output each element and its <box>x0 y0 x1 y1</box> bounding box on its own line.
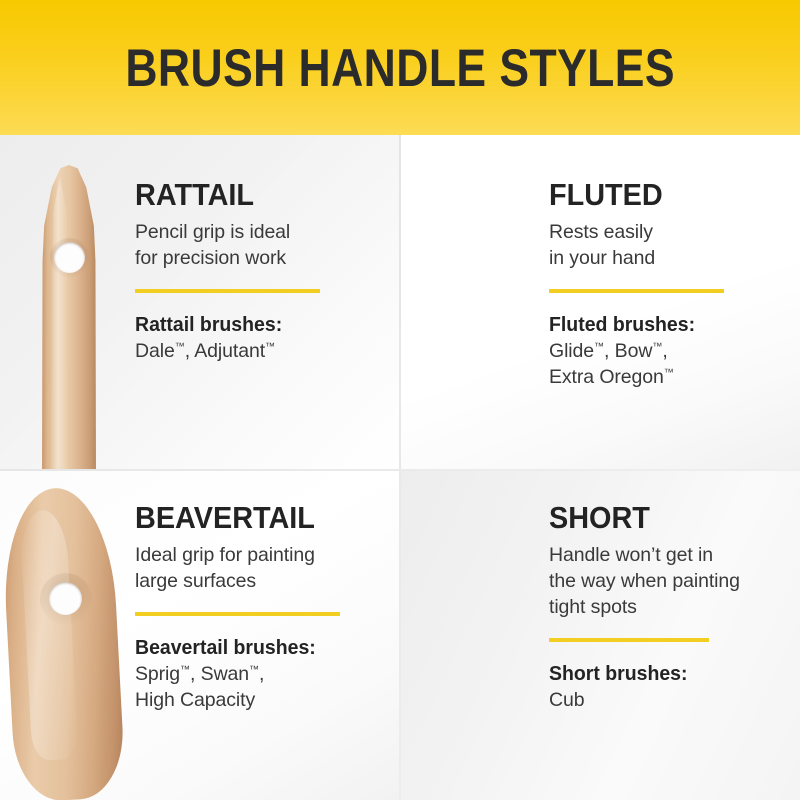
style-description-short: Handle won’t get inthe way when painting… <box>549 542 794 620</box>
brushes-list-short: Cub <box>549 688 794 714</box>
fluted-copy-block: FLUTED Rests easilyin your hand Fluted b… <box>549 179 794 391</box>
style-name-fluted: FLUTED <box>549 179 777 212</box>
brushes-label-fluted: Fluted brushes: <box>549 314 782 337</box>
brushes-list-fluted: Glide™, Bow™,Extra Oregon™ <box>549 339 794 391</box>
beavertail-handle-image <box>0 485 126 800</box>
styles-grid: RATTAIL Pencil grip is idealfor precisio… <box>0 135 800 800</box>
beavertail-copy-block: BEAVERTAIL Ideal grip for paintinglarge … <box>135 502 390 714</box>
brush-handle-styles-infographic: BRUSH HANDLE STYLES RATTAIL Pencil grip … <box>0 0 800 800</box>
trademark-symbol: ™ <box>594 342 604 353</box>
style-name-short: SHORT <box>549 502 777 535</box>
accent-divider-beavertail <box>135 612 340 616</box>
trademark-symbol: ™ <box>175 342 185 353</box>
brushes-label-beavertail: Beavertail brushes: <box>135 637 377 660</box>
style-description-fluted: Rests easilyin your hand <box>549 219 794 271</box>
style-description-beavertail: Ideal grip for paintinglarge surfaces <box>135 542 390 594</box>
beavertail-hang-hole <box>49 582 82 615</box>
trademark-symbol: ™ <box>180 665 190 676</box>
page-title: BRUSH HANDLE STYLES <box>125 42 675 95</box>
horizontal-divider <box>0 469 800 471</box>
accent-divider-rattail <box>135 289 320 293</box>
accent-divider-fluted <box>549 289 724 293</box>
rattail-handle-image <box>42 165 96 470</box>
panel-rattail: RATTAIL Pencil grip is idealfor precisio… <box>0 135 400 470</box>
rattail-hang-hole <box>54 242 85 273</box>
trademark-symbol: ™ <box>249 665 259 676</box>
vertical-divider <box>399 135 401 800</box>
style-description-rattail: Pencil grip is idealfor precision work <box>135 219 380 271</box>
brushes-list-rattail: Dale™, Adjutant™ <box>135 339 380 365</box>
style-name-beavertail: BEAVERTAIL <box>135 502 372 535</box>
brushes-label-rattail: Rattail brushes: <box>135 314 368 337</box>
header-banner: BRUSH HANDLE STYLES <box>0 0 800 135</box>
trademark-symbol: ™ <box>265 342 275 353</box>
rattail-copy-block: RATTAIL Pencil grip is idealfor precisio… <box>135 179 380 365</box>
brushes-label-short: Short brushes: <box>549 663 782 686</box>
brushes-list-beavertail: Sprig™, Swan™,High Capacity <box>135 662 390 714</box>
trademark-symbol: ™ <box>652 342 662 353</box>
trademark-symbol: ™ <box>664 368 674 379</box>
style-name-rattail: RATTAIL <box>135 179 363 212</box>
short-copy-block: SHORT Handle won’t get inthe way when pa… <box>549 502 794 714</box>
accent-divider-short <box>549 638 709 642</box>
panel-beavertail: BEAVERTAIL Ideal grip for paintinglarge … <box>0 470 400 800</box>
